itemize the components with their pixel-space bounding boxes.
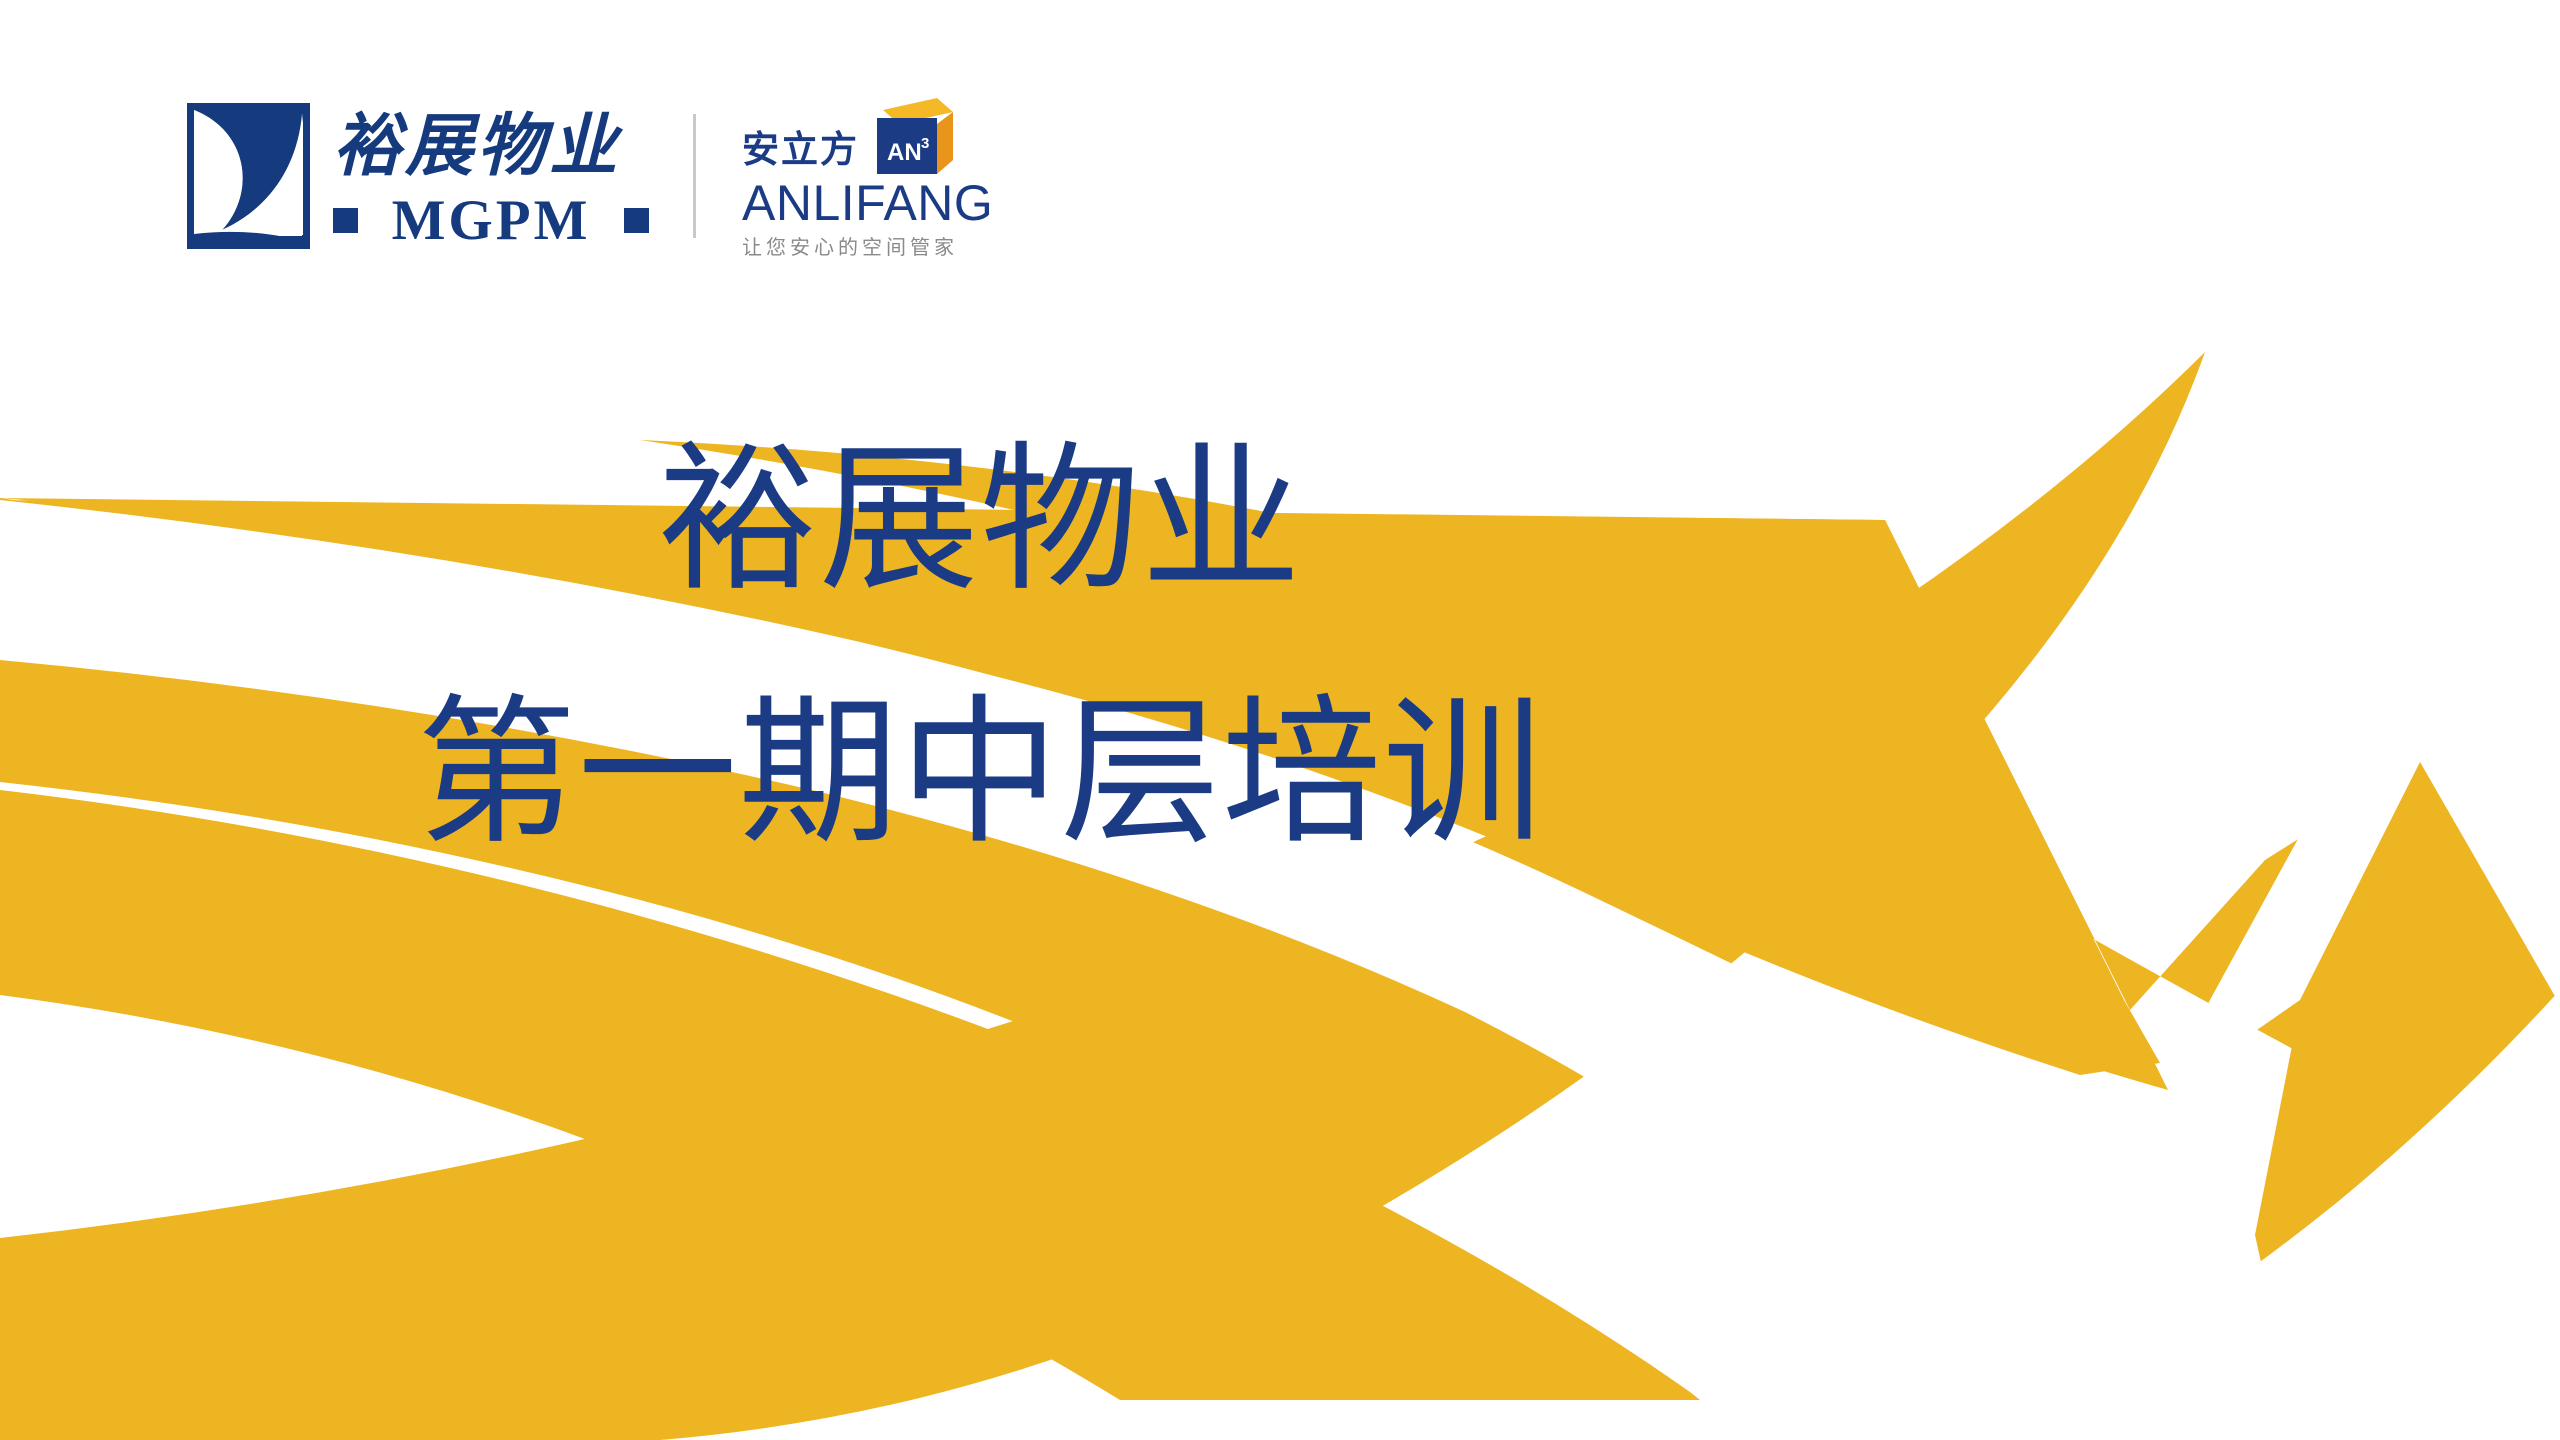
svg-text:3: 3 xyxy=(921,135,929,152)
anlifang-top-row: 安立方 AN 3 xyxy=(742,96,993,176)
title-block: 裕展物业 第一期中层培训 xyxy=(0,440,1960,853)
logo-lockup: 裕展物业 MGPM 安立方 xyxy=(186,96,993,256)
main-peak-shape xyxy=(640,440,2560,1190)
anlifang-brand: 安立方 AN 3 ANLIFANG 让您安心的空间管家 xyxy=(742,96,993,256)
title-line-1: 裕展物业 xyxy=(0,440,1960,600)
an-cube-icon: AN 3 xyxy=(869,96,953,176)
square-bullet-left-icon xyxy=(333,208,358,233)
mgpm-english-row: MGPM xyxy=(333,192,649,249)
upper-mountain-silhouette xyxy=(0,498,2160,1400)
mgpm-sail-mark xyxy=(186,102,311,250)
lower-sweep-band xyxy=(0,352,2205,1440)
square-bullet-right-icon xyxy=(624,208,649,233)
logo-divider xyxy=(693,114,696,238)
carve-bottom-right xyxy=(1980,990,2560,1440)
secondary-peak-shape xyxy=(2255,762,2560,1440)
anlifang-tagline: 让您安心的空间管家 xyxy=(742,237,993,257)
mountain-body xyxy=(0,500,2168,1120)
svg-text:AN: AN xyxy=(887,139,922,166)
slide-canvas: 裕展物业 MGPM 安立方 xyxy=(0,0,2560,1440)
mgpm-wordmark: 裕展物业 MGPM xyxy=(333,102,649,250)
anlifang-english-name: ANLIFANG xyxy=(742,178,993,228)
mgpm-chinese-name: 裕展物业 xyxy=(333,104,649,190)
anlifang-chinese-name: 安立方 xyxy=(742,131,859,176)
title-line-2: 第一期中层培训 xyxy=(0,693,1960,853)
carve-gap-upper xyxy=(0,500,1790,1092)
carve-peak-notch xyxy=(2168,762,2420,1092)
mgpm-brand: 裕展物业 MGPM xyxy=(186,96,649,256)
mgpm-english-name: MGPM xyxy=(392,192,591,249)
